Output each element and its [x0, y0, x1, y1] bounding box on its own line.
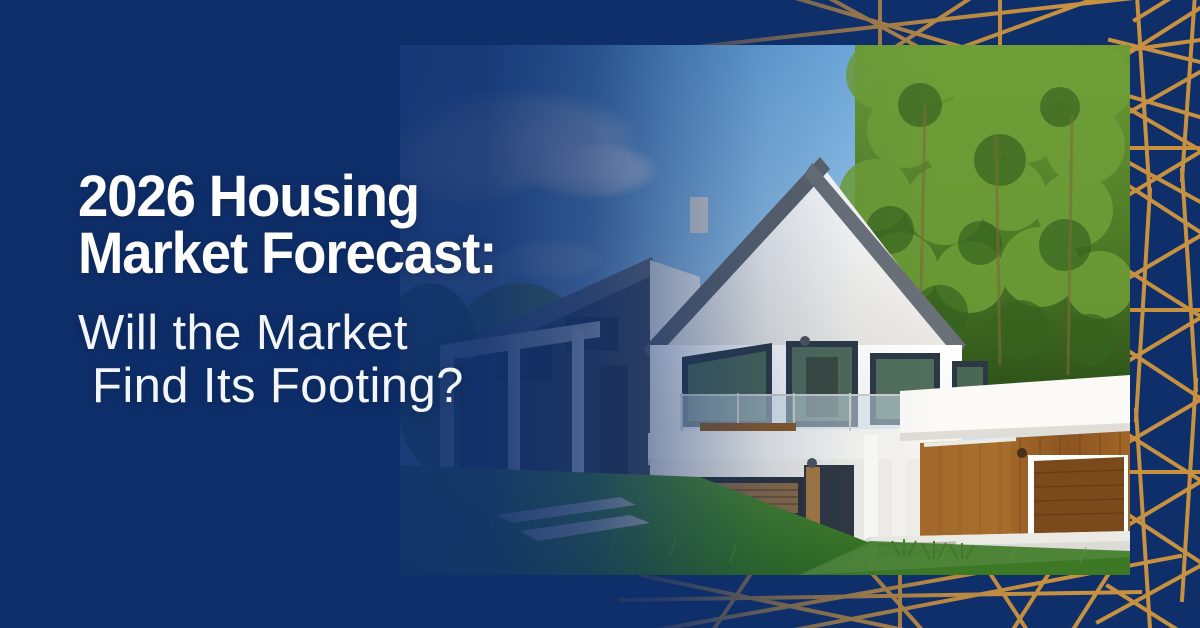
page-subtitle: Will the Market Find Its Footing? [78, 307, 678, 413]
subhead-line-1: Will the Market [78, 307, 678, 360]
promo-banner: 2026 Housing Market Forecast: Will the M… [0, 0, 1200, 628]
headline-line-2: Market Forecast: [78, 225, 642, 282]
headline-block: 2026 Housing Market Forecast: Will the M… [78, 168, 678, 413]
subhead-line-2: Find Its Footing? [78, 360, 678, 413]
headline-line-1: 2026 Housing [78, 168, 642, 225]
page-title: 2026 Housing Market Forecast: [78, 168, 642, 283]
